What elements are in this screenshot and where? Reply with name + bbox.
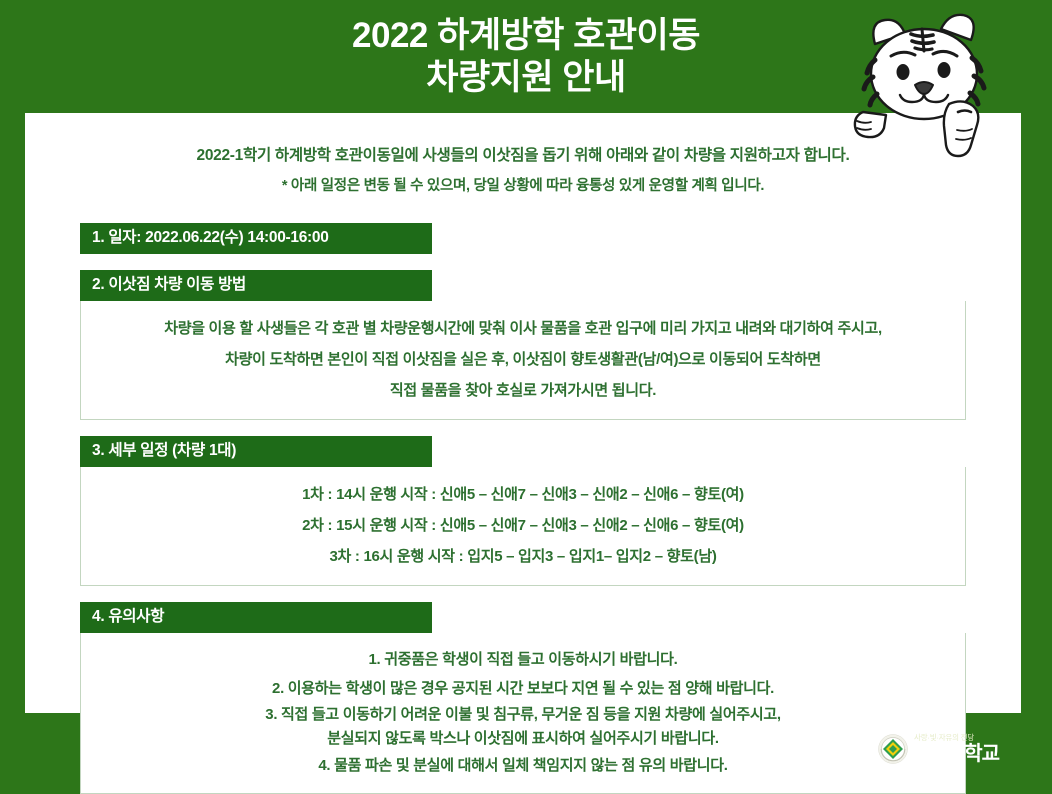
- university-emblem-icon: [878, 734, 908, 764]
- section-date: 1. 일자: 2022.06.22(수) 14:00-16:00: [80, 223, 966, 254]
- poster-root: 2022 하계방학 호관이동 차량지원 안내: [0, 0, 1052, 786]
- section-method: 2. 이삿짐 차량 이동 방법 차량을 이용 할 사생들은 각 호관 별 차량운…: [80, 270, 966, 420]
- section-body-notes: 1. 귀중품은 학생이 직접 들고 이동하시기 바랍니다. 2. 이용하는 학생…: [80, 633, 966, 794]
- schedule-trip-3: 3차 : 16시 운행 시작 : 입지5 – 입지3 – 입지1– 입지2 – …: [97, 541, 949, 572]
- page-title-line-2: 차량지원 안내: [426, 57, 625, 99]
- schedule-trip-1: 1차 : 14시 운행 시작 : 신애5 – 신애7 – 신애3 – 신애2 –…: [97, 479, 949, 510]
- note-item-1: 1. 귀중품은 학생이 직접 들고 이동하시기 바랍니다.: [97, 645, 949, 674]
- section-header-method: 2. 이삿짐 차량 이동 방법: [80, 270, 432, 301]
- university-name: 대구대학교: [912, 744, 999, 764]
- section-body-schedule: 1차 : 14시 운행 시작 : 신애5 – 신애7 – 신애3 – 신애2 –…: [80, 467, 966, 586]
- method-line-2: 차량이 도착하면 본인이 직접 이삿짐을 실은 후, 이삿짐이 향토생활관(남/…: [97, 344, 949, 375]
- section-body-method: 차량을 이용 할 사생들은 각 호관 별 차량운행시간에 맞춰 이사 물품을 호…: [80, 301, 966, 420]
- page-title-line-1: 2022 하계방학 호관이동: [352, 15, 700, 57]
- section-header-date: 1. 일자: 2022.06.22(수) 14:00-16:00: [80, 223, 432, 254]
- note-item-3: 3. 직접 들고 이동하기 어려운 이불 및 침구류, 무거운 짐 등을 지원 …: [97, 703, 949, 727]
- university-logo: 사랑·빛·자유의 전당 대구대학교: [878, 727, 1038, 771]
- method-line-1: 차량을 이용 할 사생들은 각 호관 별 차량운행시간에 맞춰 이사 물품을 호…: [97, 313, 949, 344]
- section-schedule: 3. 세부 일정 (차량 1대) 1차 : 14시 운행 시작 : 신애5 – …: [80, 436, 966, 586]
- intro-line-1: 2022-1학기 하계방학 호관이동일에 사생들의 이삿짐을 돕기 위해 아래와…: [25, 141, 1021, 171]
- university-logo-text: 사랑·빛·자유의 전당 대구대학교: [912, 734, 999, 764]
- section-header-notes: 4. 유의사항: [80, 602, 432, 633]
- content-panel: 2022-1학기 하계방학 호관이동일에 사생들의 이삿짐을 돕기 위해 아래와…: [25, 113, 1021, 713]
- note-item-4: 4. 물품 파손 및 분실에 대해서 일체 책임지지 않는 점 유의 바랍니다.: [97, 751, 949, 780]
- section-header-schedule: 3. 세부 일정 (차량 1대): [80, 436, 432, 467]
- note-item-3-cont: 분실되지 않도록 박스나 이삿짐에 표시하여 실어주시기 바랍니다.: [97, 727, 949, 751]
- intro-block: 2022-1학기 하계방학 호관이동일에 사생들의 이삿짐을 돕기 위해 아래와…: [25, 141, 1021, 201]
- university-tagline: 사랑·빛·자유의 전당: [914, 734, 999, 742]
- intro-line-2: * 아래 일정은 변동 될 수 있으며, 당일 상황에 따라 융통성 있게 운영…: [25, 171, 1021, 201]
- section-notes: 4. 유의사항 1. 귀중품은 학생이 직접 들고 이동하시기 바랍니다. 2.…: [80, 602, 966, 794]
- note-item-2: 2. 이용하는 학생이 많은 경우 공지된 시간 보보다 지연 될 수 있는 점…: [97, 674, 949, 703]
- method-line-3: 직접 물품을 찾아 호실로 가져가시면 됩니다.: [97, 375, 949, 406]
- poster-header: 2022 하계방학 호관이동 차량지원 안내: [0, 0, 1052, 113]
- schedule-trip-2: 2차 : 15시 운행 시작 : 신애5 – 신애7 – 신애3 – 신애2 –…: [97, 510, 949, 541]
